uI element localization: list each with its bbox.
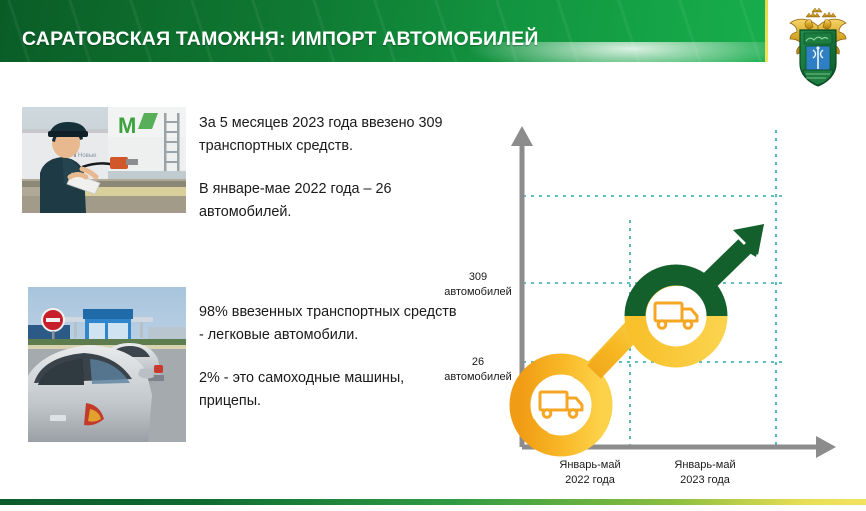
text-block-2-paragraph-1: 98% ввезенных транспортных средств - лег…: [199, 301, 459, 347]
page-title: САРАТОВСКАЯ ТАМОЖНЯ: ИМПОРТ АВТОМОБИЛЕЙ …: [18, 0, 758, 62]
header-edge-stripe: [765, 0, 768, 62]
data-marker-2022: [520, 364, 602, 446]
photo-border-checkpoint-cars: [28, 287, 186, 442]
text-gap: [199, 158, 449, 178]
text-block-vehicle-composition: 98% ввезенных транспортных средств - лег…: [199, 301, 459, 413]
text-block-1-paragraph-2: В январе-мае 2022 года – 26 автомобилей.: [199, 178, 449, 224]
data-marker-2023: [635, 275, 717, 357]
russian-customs-emblem-icon: [784, 6, 852, 90]
photo-customs-officer-inspecting-truck: PY Новые M: [22, 107, 186, 213]
y-axis-arrowhead: [511, 126, 533, 146]
text-block-import-volume: За 5 месяцев 2023 года ввезено 309 транс…: [199, 112, 449, 224]
header-band: САРАТОВСКАЯ ТАМОЖНЯ: ИМПОРТ АВТОМОБИЛЕЙ …: [0, 0, 766, 62]
text-block-1-paragraph-1: За 5 месяцев 2023 года ввезено 309 транс…: [199, 112, 449, 158]
chart-canvas: [430, 120, 850, 500]
text-gap: [199, 347, 459, 367]
text-block-2-paragraph-2: 2% - это самоходные машины, прицепы.: [199, 367, 459, 413]
growth-arrow-icon: [704, 224, 764, 286]
page-title-line-1: САРАТОВСКАЯ ТАМОЖНЯ: ИМПОРТ АВТОМОБИЛЕЙ: [18, 26, 758, 52]
footer-spacer: [0, 505, 866, 511]
growth-chart: 309 автомобилей 26 автомобилей Январь-ма…: [430, 120, 850, 500]
svg-text:Новые: Новые: [78, 153, 97, 159]
svg-text:M: M: [118, 113, 136, 138]
slide-root: САРАТОВСКАЯ ТАМОЖНЯ: ИМПОРТ АВТОМОБИЛЕЙ …: [0, 0, 866, 511]
x-axis-arrowhead: [816, 436, 836, 458]
